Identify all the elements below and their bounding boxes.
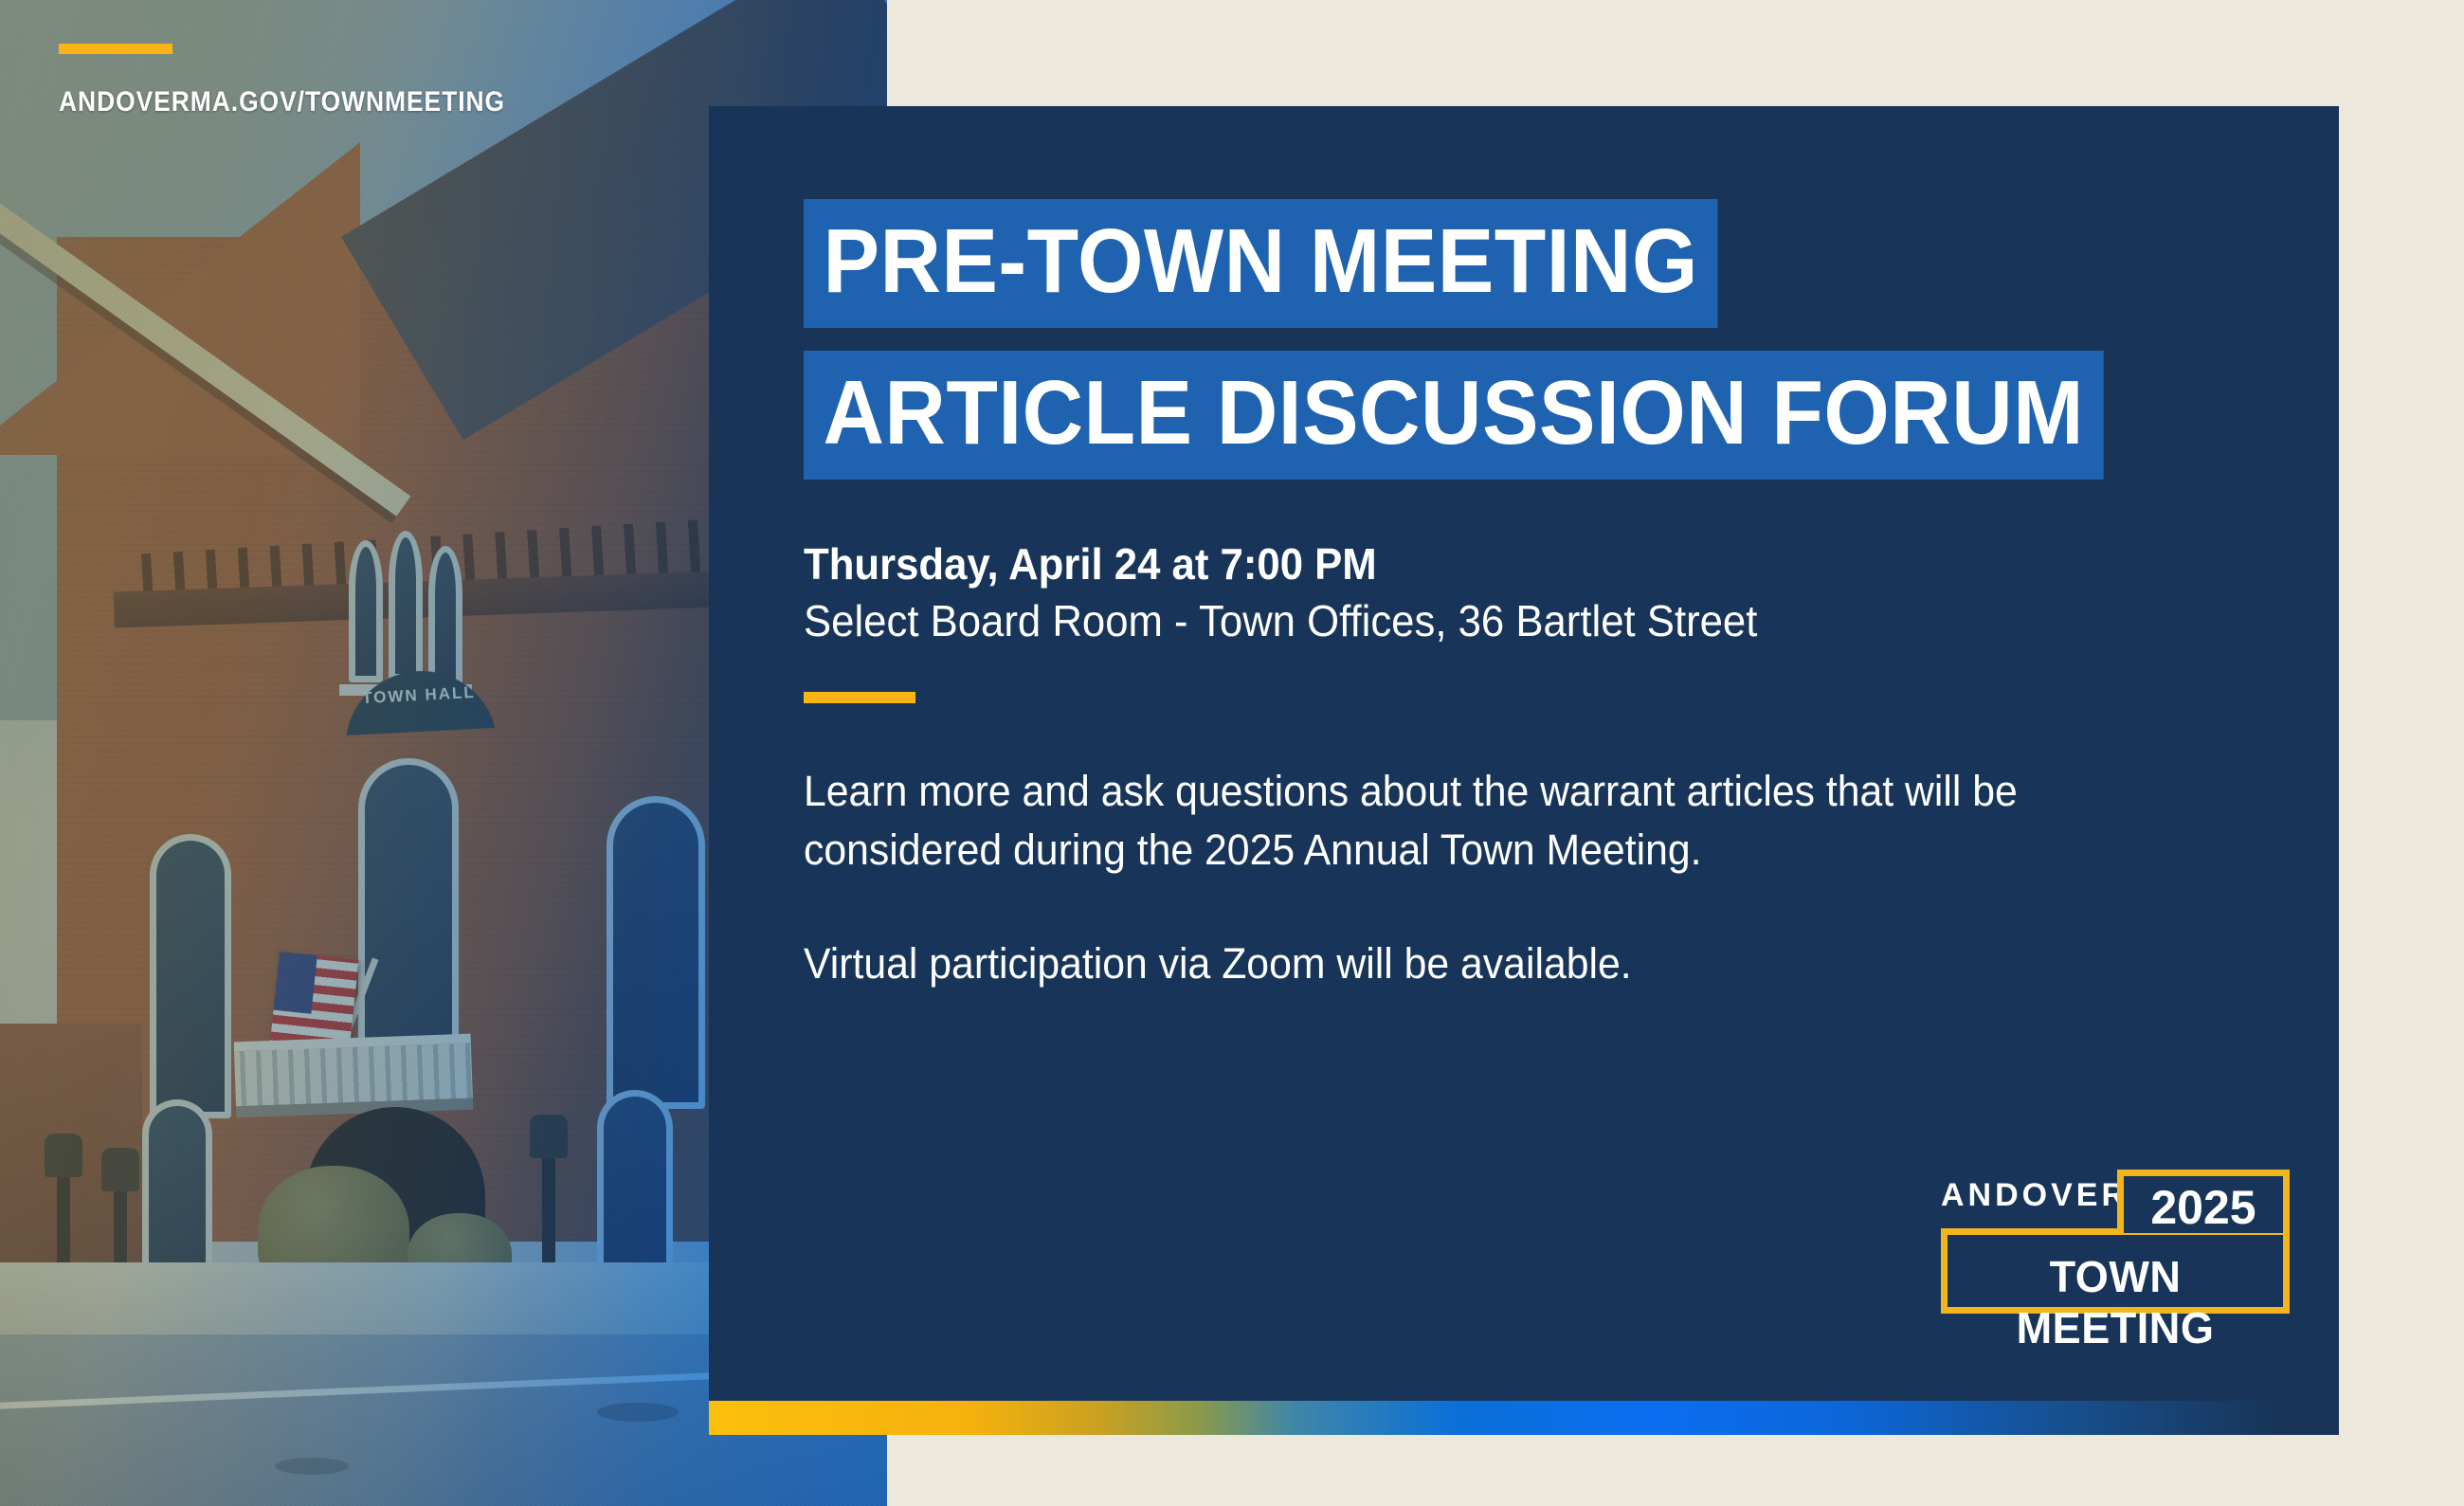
logo-seam	[2124, 1225, 2283, 1233]
logo-bottom-box: TOWN MEETING	[1941, 1228, 2290, 1314]
headline-line-2: ARTICLE DISCUSSION FORUM	[804, 351, 2103, 480]
town-meeting-logo: ANDOVER 2025 TOWN MEETING	[1941, 1170, 2290, 1314]
event-card: PRE-TOWN MEETING ARTICLE DISCUSSION FORU…	[709, 106, 2339, 1401]
event-details: Thursday, April 24 at 7:00 PM Select Boa…	[804, 536, 2190, 650]
event-datetime: Thursday, April 24 at 7:00 PM	[804, 536, 2190, 593]
headline-line-1: PRE-TOWN MEETING	[804, 199, 1717, 328]
description-paragraph-1: Learn more and ask questions about the w…	[804, 762, 2082, 880]
logo-town-label: ANDOVER	[1941, 1177, 2123, 1214]
event-description: Learn more and ask questions about the w…	[804, 762, 2082, 993]
website-url[interactable]: ANDOVERMA.GOV/TOWNMEETING	[59, 86, 505, 118]
description-paragraph-2: Virtual participation via Zoom will be a…	[804, 934, 2082, 993]
poster-canvas: TOWN HALL	[0, 0, 2464, 1506]
event-location: Select Board Room - Town Offices, 36 Bar…	[804, 593, 2190, 650]
bottom-gradient-bar	[709, 1401, 2339, 1435]
yellow-accent-divider	[804, 692, 915, 703]
website-callout: ANDOVERMA.GOV/TOWNMEETING	[59, 44, 566, 118]
logo-event-label: TOWN MEETING	[1951, 1251, 2280, 1353]
yellow-accent-rule-top	[59, 44, 172, 54]
event-card-content: PRE-TOWN MEETING ARTICLE DISCUSSION FORU…	[804, 199, 2263, 993]
